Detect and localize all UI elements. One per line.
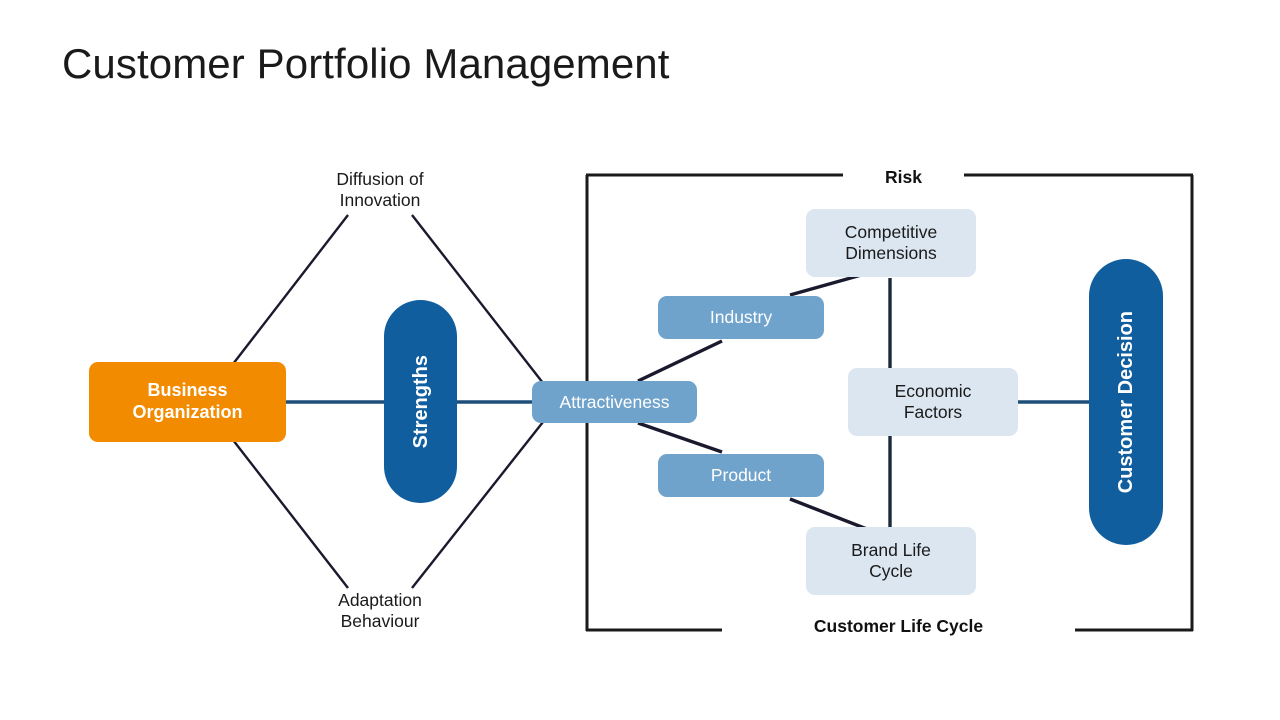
node-adaptation-behaviour: Adaptation Behaviour [300,587,460,635]
frame-label-customer-life-cycle: Customer Life Cycle [722,616,1075,637]
node-brand-life-cycle[interactable]: Brand Life Cycle [806,527,976,595]
connector-attractiveness-to-product [638,423,722,452]
node-business-organization[interactable]: Business Organization [89,362,286,442]
node-diffusion-of-innovation: Diffusion of Innovation [300,166,460,214]
node-adaptation-behaviour-line1: Adaptation [338,590,422,611]
connector-bo-to-diffusion [233,215,348,364]
node-competitive-dimensions[interactable]: Competitive Dimensions [806,209,976,277]
connector-attractiveness-to-industry [638,341,722,381]
diagram-connectors [0,0,1280,720]
node-brand-life-cycle-line2: Cycle [851,561,931,582]
frame-label-risk: Risk [843,167,964,188]
node-business-organization-line2: Organization [132,402,242,424]
node-economic-factors-line2: Factors [895,402,972,423]
node-strengths[interactable]: Strengths [384,300,457,503]
node-competitive-dimensions-line2: Dimensions [845,243,937,264]
connector-bo-to-adaptation [233,440,348,588]
node-product-label: Product [711,465,771,486]
node-product[interactable]: Product [658,454,824,497]
node-diffusion-of-innovation-line1: Diffusion of [336,169,423,190]
node-customer-decision-label: Customer Decision [1114,311,1138,493]
node-economic-factors[interactable]: Economic Factors [848,368,1018,436]
node-strengths-label: Strengths [409,355,433,448]
node-attractiveness-label: Attractiveness [560,392,670,413]
node-diffusion-of-innovation-line2: Innovation [336,190,423,211]
node-industry-label: Industry [710,307,772,328]
slide-canvas: Customer Portfolio Management [0,0,1280,720]
node-economic-factors-line1: Economic [895,381,972,402]
node-industry[interactable]: Industry [658,296,824,339]
node-brand-life-cycle-line1: Brand Life [851,540,931,561]
node-business-organization-line1: Business [132,380,242,402]
node-attractiveness[interactable]: Attractiveness [532,381,697,423]
node-competitive-dimensions-line1: Competitive [845,222,937,243]
node-customer-decision[interactable]: Customer Decision [1089,259,1163,545]
node-adaptation-behaviour-line2: Behaviour [338,611,422,632]
